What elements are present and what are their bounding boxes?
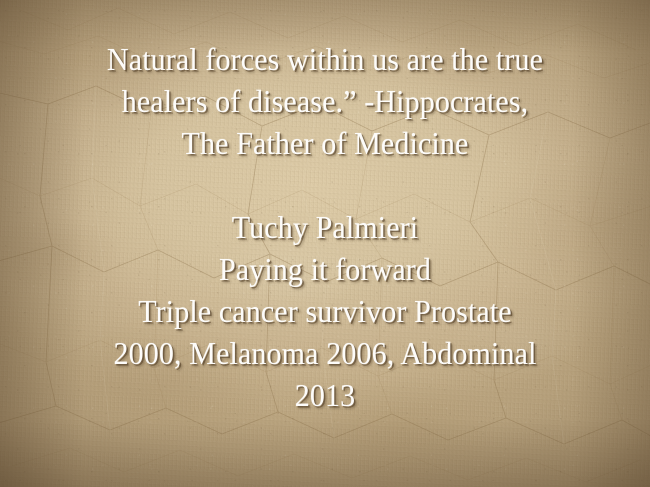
- attribution-line-4: 2000, Melanoma 2006, Abdominal: [20, 332, 631, 374]
- attribution-line-1: Tuchy Palmieri: [20, 206, 631, 248]
- slide-text-layer: Natural forces within us are the true he…: [0, 0, 650, 487]
- attribution-line-5: 2013: [20, 374, 631, 416]
- quote-line-2: healers of disease.” -Hippocrates,: [20, 80, 631, 122]
- quote-line-3: The Father of Medicine: [20, 122, 631, 164]
- quote-slide: Natural forces within us are the true he…: [0, 0, 650, 487]
- attribution-line-3: Triple cancer survivor Prostate: [20, 290, 631, 332]
- attribution-block: Tuchy Palmieri Paying it forward Triple …: [0, 206, 650, 416]
- quote-block: Natural forces within us are the true he…: [0, 38, 650, 164]
- attribution-line-2: Paying it forward: [20, 248, 631, 290]
- quote-line-1: Natural forces within us are the true: [20, 38, 631, 80]
